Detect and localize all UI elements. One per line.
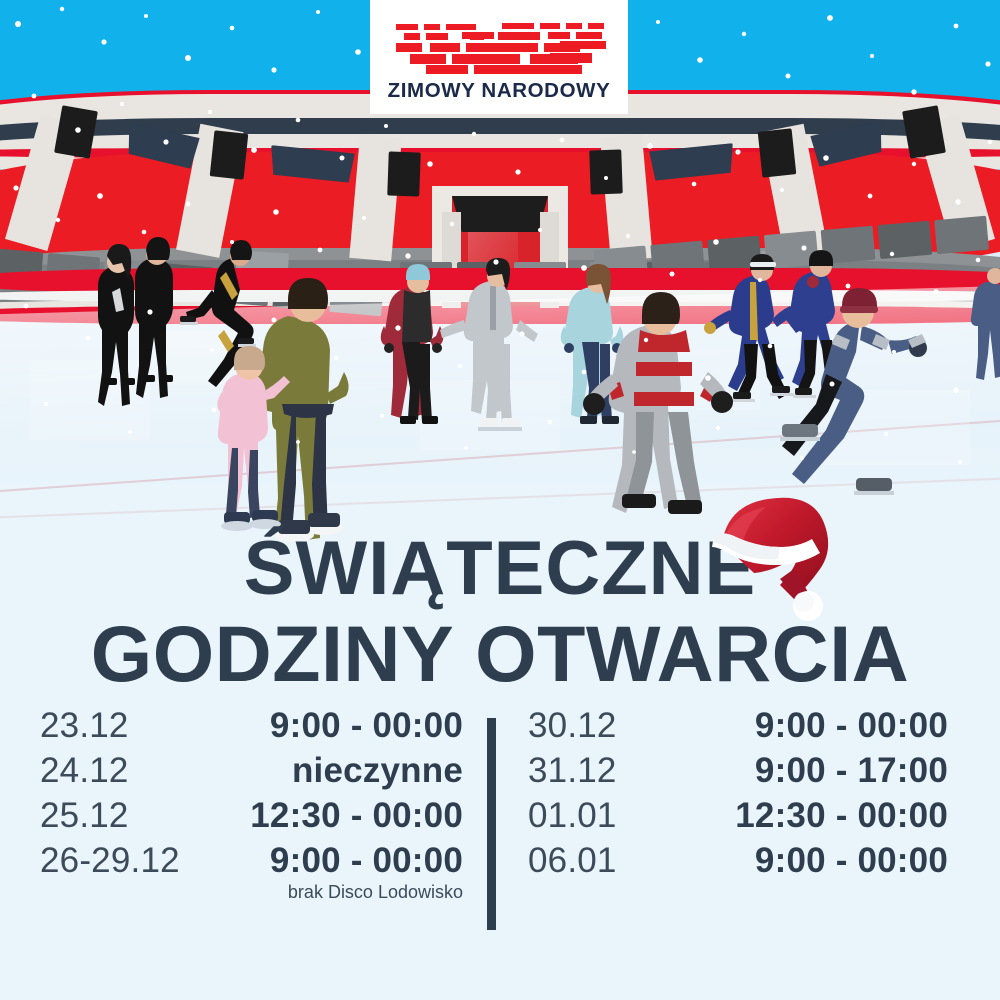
row-date: 25.12 <box>15 796 215 836</box>
table-row: 25.12 12:30 - 00:00 <box>15 796 485 841</box>
row-date: 26-29.12 <box>15 841 215 881</box>
skater-couple-black <box>98 237 173 406</box>
row-hours: 9:00 - 00:00 <box>215 841 485 881</box>
row-note: brak Disco Lodowisko <box>15 882 485 903</box>
row-date: 31.12 <box>508 751 708 791</box>
row-hours: 9:00 - 17:00 <box>708 751 978 791</box>
row-date: 24.12 <box>15 751 215 791</box>
title-line-2: GODZINY OTWARCIA <box>0 611 1000 698</box>
table-row: 30.12 9:00 - 00:00 <box>508 706 978 751</box>
row-date: 30.12 <box>508 706 708 746</box>
table-row: 23.12 9:00 - 00:00 <box>15 706 485 751</box>
table-row: 01.01 12:30 - 00:00 <box>508 796 978 841</box>
logo-text: ZIMOWY NARODOWY <box>388 79 611 103</box>
skater-far-right-edge <box>971 268 1000 380</box>
table-row: 06.01 9:00 - 00:00 <box>508 841 978 886</box>
row-hours: 9:00 - 00:00 <box>708 706 978 746</box>
logo-card: ZIMOWY NARODOWY <box>370 0 628 114</box>
row-hours: 9:00 - 00:00 <box>215 706 485 746</box>
schedule-column-left: 23.12 9:00 - 00:00 24.12 nieczynne 25.12… <box>15 706 485 903</box>
row-hours: 12:30 - 00:00 <box>215 796 485 836</box>
row-hours: 9:00 - 00:00 <box>708 841 978 881</box>
santa-hat-icon <box>700 487 880 622</box>
poster-canvas: ZIMOWY NARODOWY ŚWIĄTECZNE GODZINY OTWAR… <box>0 0 1000 1000</box>
skater-maroon <box>381 264 444 424</box>
row-hours: 12:30 - 00:00 <box>708 796 978 836</box>
zimowy-narodowy-mark-icon <box>392 22 606 74</box>
column-divider <box>487 718 496 930</box>
row-hours: nieczynne <box>215 751 485 791</box>
opening-hours-table: 23.12 9:00 - 00:00 24.12 nieczynne 25.12… <box>0 706 1000 946</box>
schedule-column-right: 30.12 9:00 - 00:00 31.12 9:00 - 17:00 01… <box>508 706 978 886</box>
skater-man-olive <box>253 278 348 542</box>
row-date: 23.12 <box>15 706 215 746</box>
row-date: 01.01 <box>508 796 708 836</box>
skater-grey-centre <box>440 258 538 431</box>
table-row: 26-29.12 9:00 - 00:00 <box>15 841 485 886</box>
row-date: 06.01 <box>508 841 708 881</box>
table-row: 24.12 nieczynne <box>15 751 485 796</box>
skater-blue-speed <box>704 254 804 402</box>
table-row: 31.12 9:00 - 17:00 <box>508 751 978 796</box>
